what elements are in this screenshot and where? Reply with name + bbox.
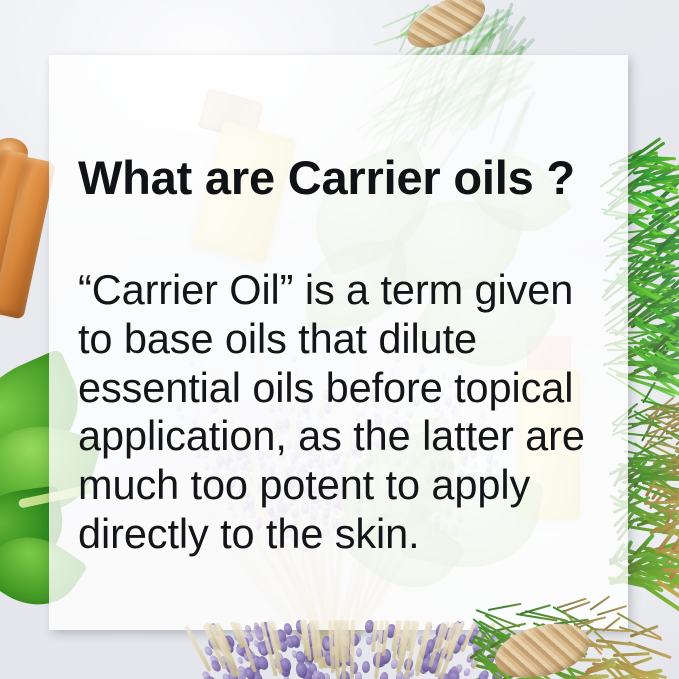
page-title: What are Carrier oils ? bbox=[78, 153, 608, 204]
body-line: much too potent to apply bbox=[78, 461, 612, 510]
infographic-canvas: What are Carrier oils ? “Carrier Oil” is… bbox=[0, 0, 679, 679]
body-paragraph: “Carrier Oil” is a term given to base oi… bbox=[78, 266, 612, 559]
body-line: application, as the latter are bbox=[78, 412, 612, 461]
body-line: to base oils that dilute bbox=[78, 315, 612, 364]
body-line: essential oils before topical bbox=[78, 364, 612, 413]
body-line: “Carrier Oil” is a term given bbox=[78, 266, 612, 315]
rosemary-needle bbox=[658, 255, 679, 261]
body-line: directly to the skin. bbox=[78, 510, 612, 559]
